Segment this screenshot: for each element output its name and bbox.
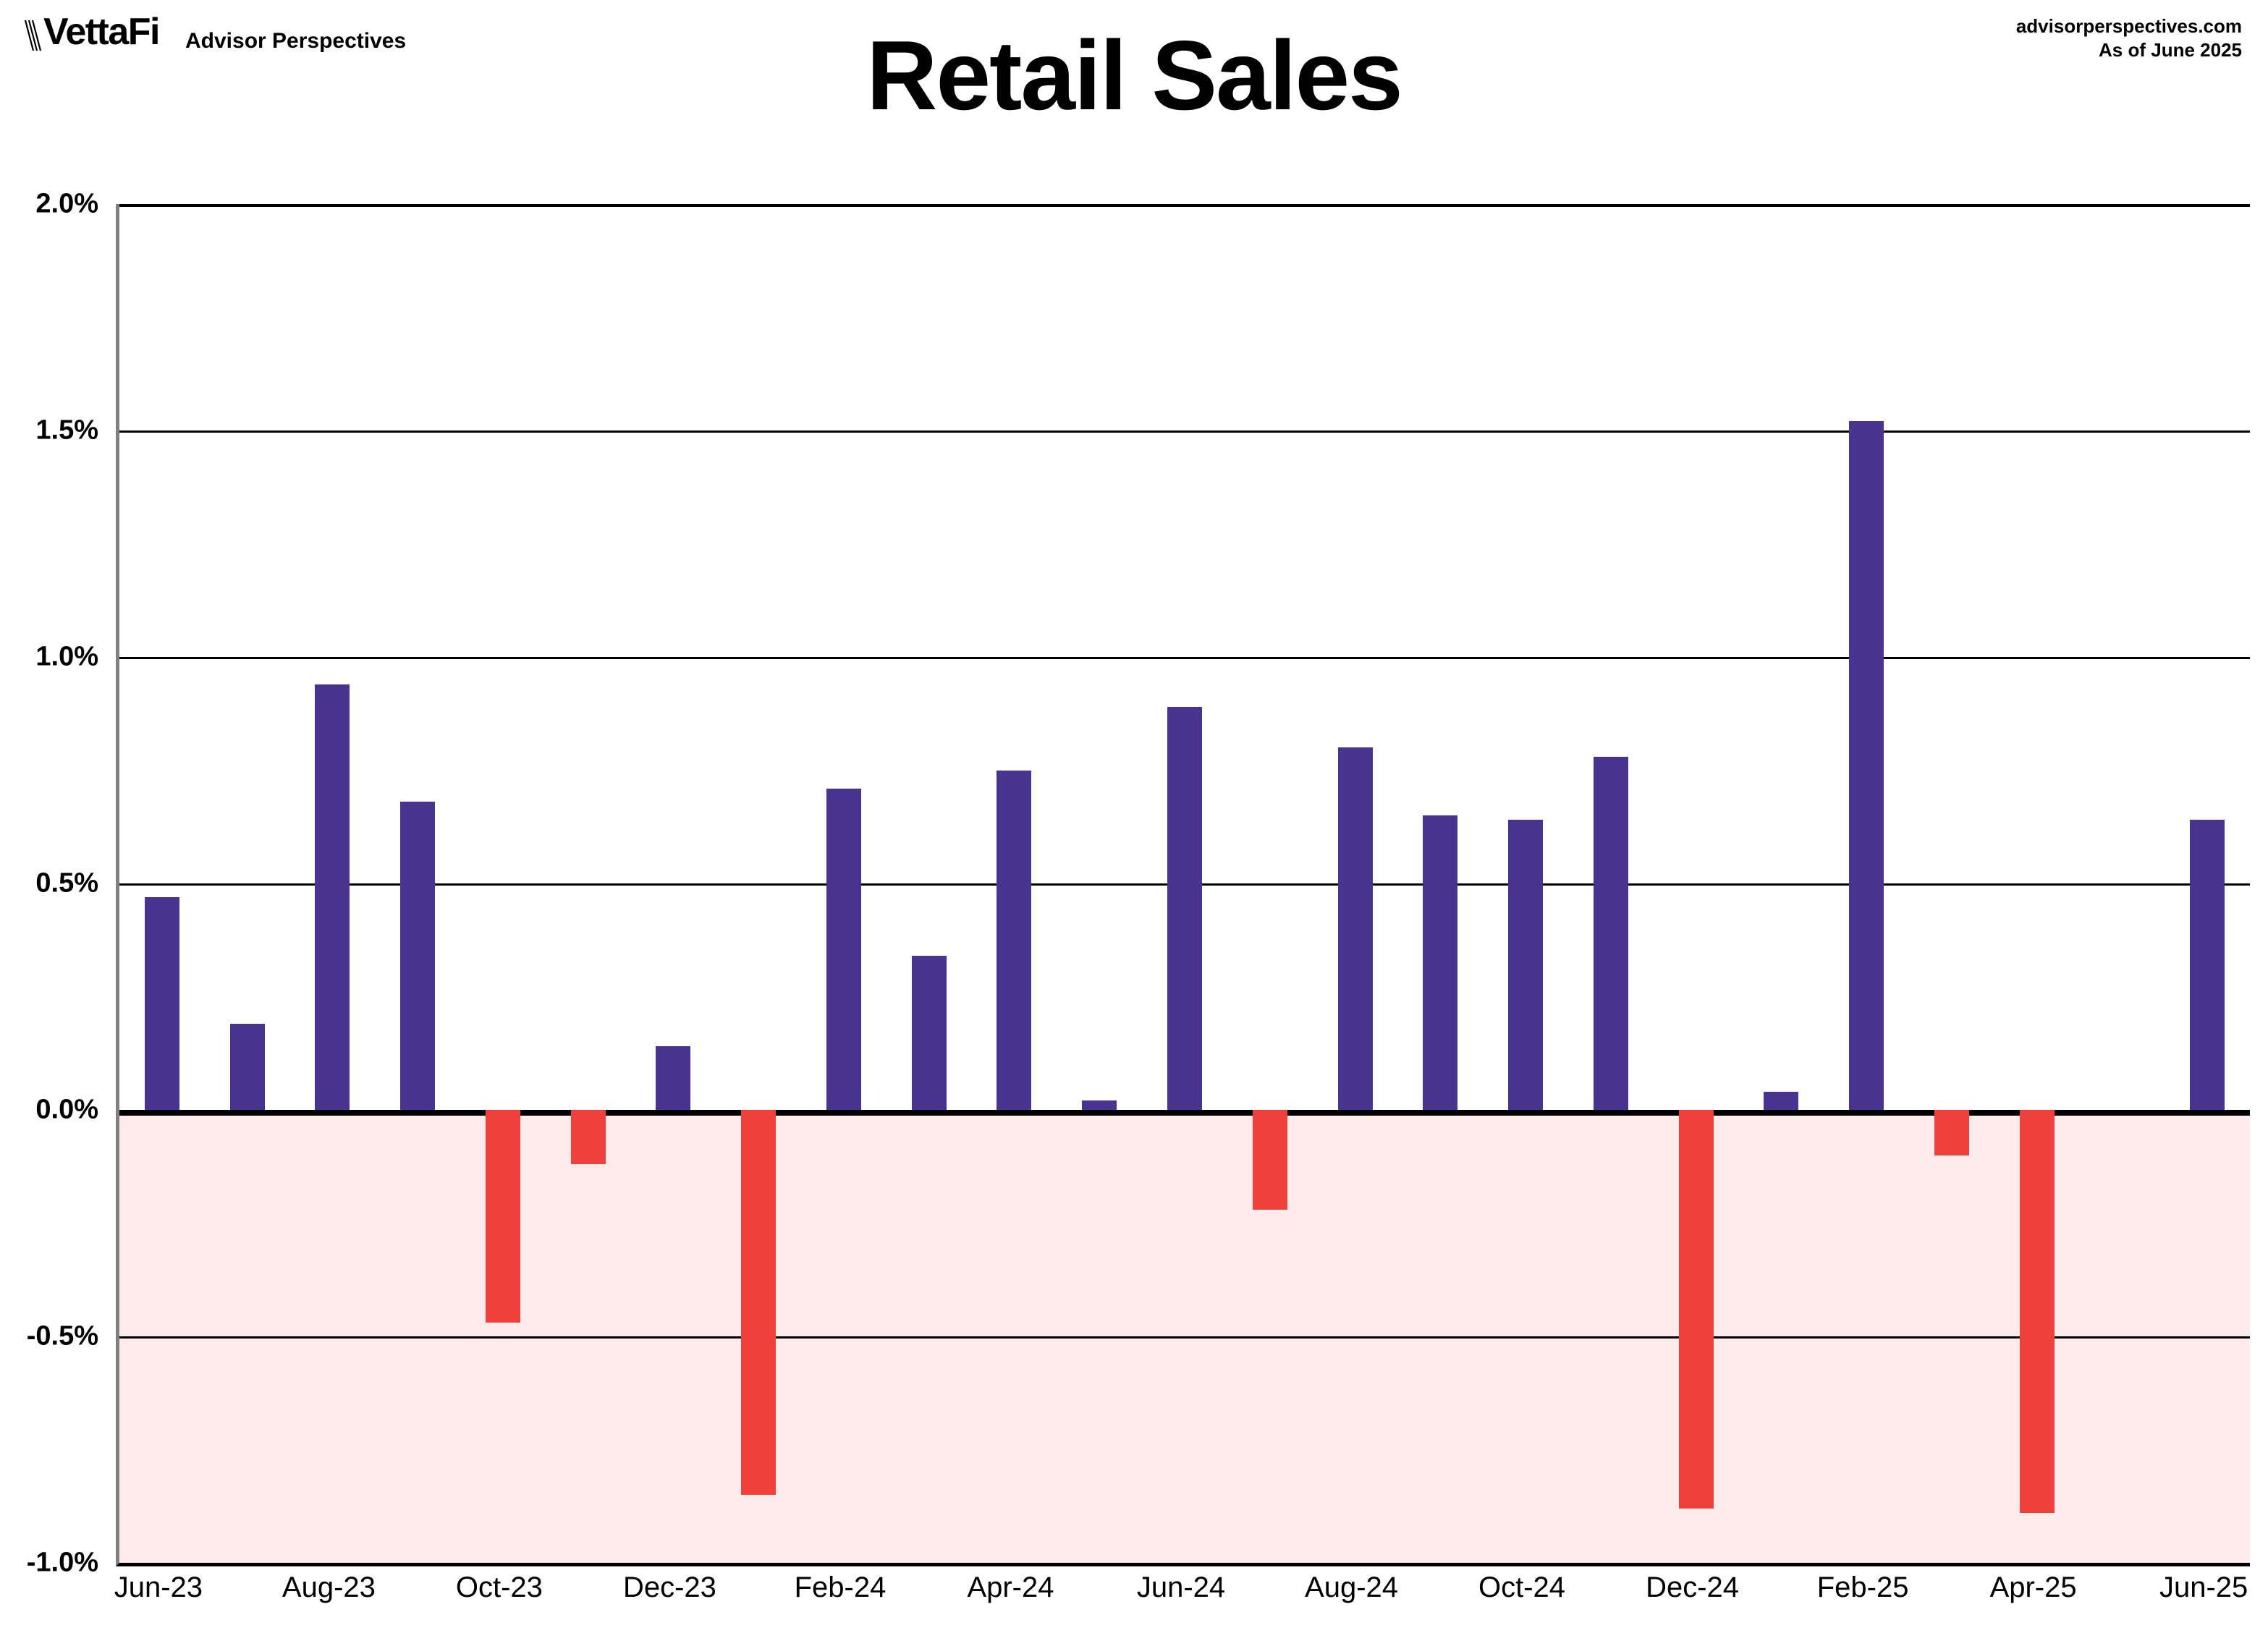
x-tick-label: Dec-23	[623, 1571, 716, 1604]
bar-sep-23	[400, 802, 435, 1110]
bar-mar-25	[1934, 1110, 1969, 1155]
bar-jun-24	[1167, 707, 1202, 1110]
bar-aug-23	[315, 684, 350, 1110]
bar-mar-24	[912, 956, 947, 1110]
bar-apr-25	[2020, 1110, 2055, 1513]
bar-jun-25	[2190, 820, 2225, 1110]
bar-may-24	[1082, 1100, 1117, 1110]
x-tick-label: Oct-24	[1478, 1571, 1565, 1604]
bar-oct-23	[486, 1110, 520, 1323]
x-tick-label: Jun-25	[2159, 1571, 2248, 1604]
bar-jan-24	[741, 1110, 776, 1495]
y-tick-label: 1.0%	[35, 642, 98, 673]
bar-sep-24	[1423, 815, 1457, 1110]
y-tick-label: 1.5%	[35, 415, 98, 446]
bar-nov-24	[1594, 757, 1628, 1110]
page-header: VettaFi Advisor Perspectives advisorpers…	[0, 0, 2268, 174]
x-tick-label: Jun-23	[114, 1571, 203, 1604]
y-tick-label: 0.0%	[35, 1095, 98, 1126]
bar-jul-24	[1253, 1110, 1287, 1210]
bar-oct-24	[1508, 820, 1543, 1110]
bar-jun-23	[145, 897, 179, 1110]
x-tick-label: Apr-25	[1990, 1571, 2077, 1604]
x-tick-label: Oct-23	[456, 1571, 543, 1604]
bar-jul-23	[230, 1024, 265, 1110]
y-axis-labels: 2.0%1.5%1.0%0.5%0.0%-0.5%-1.0%	[0, 204, 109, 1563]
bar-aug-24	[1338, 747, 1373, 1110]
y-tick-label: -1.0%	[27, 1548, 98, 1579]
x-tick-label: Feb-25	[1817, 1571, 1909, 1604]
x-tick-label: Jun-24	[1137, 1571, 1225, 1604]
y-tick-label: -0.5%	[27, 1321, 98, 1352]
bar-dec-23	[656, 1046, 690, 1110]
bar-nov-23	[571, 1110, 606, 1164]
x-tick-label: Feb-24	[795, 1571, 887, 1604]
y-tick-label: 2.0%	[35, 189, 98, 220]
x-tick-label: Aug-24	[1305, 1571, 1398, 1604]
x-axis-labels: Jun-23Aug-23Oct-23Dec-23Feb-24Apr-24Jun-…	[116, 1571, 2246, 1622]
bar-dec-24	[1679, 1110, 1714, 1509]
bar-apr-24	[997, 771, 1031, 1111]
x-tick-label: Dec-24	[1646, 1571, 1739, 1604]
chart-bars	[119, 204, 2250, 1563]
bar-feb-24	[826, 789, 861, 1110]
x-tick-label: Aug-23	[282, 1571, 376, 1604]
bar-jan-25	[1764, 1092, 1798, 1110]
x-tick-label: Apr-24	[967, 1571, 1054, 1604]
page-title: Retail Sales	[0, 26, 2268, 124]
chart-plot-area	[116, 204, 2250, 1566]
y-tick-label: 0.5%	[35, 868, 98, 899]
bar-feb-25	[1849, 421, 1884, 1110]
